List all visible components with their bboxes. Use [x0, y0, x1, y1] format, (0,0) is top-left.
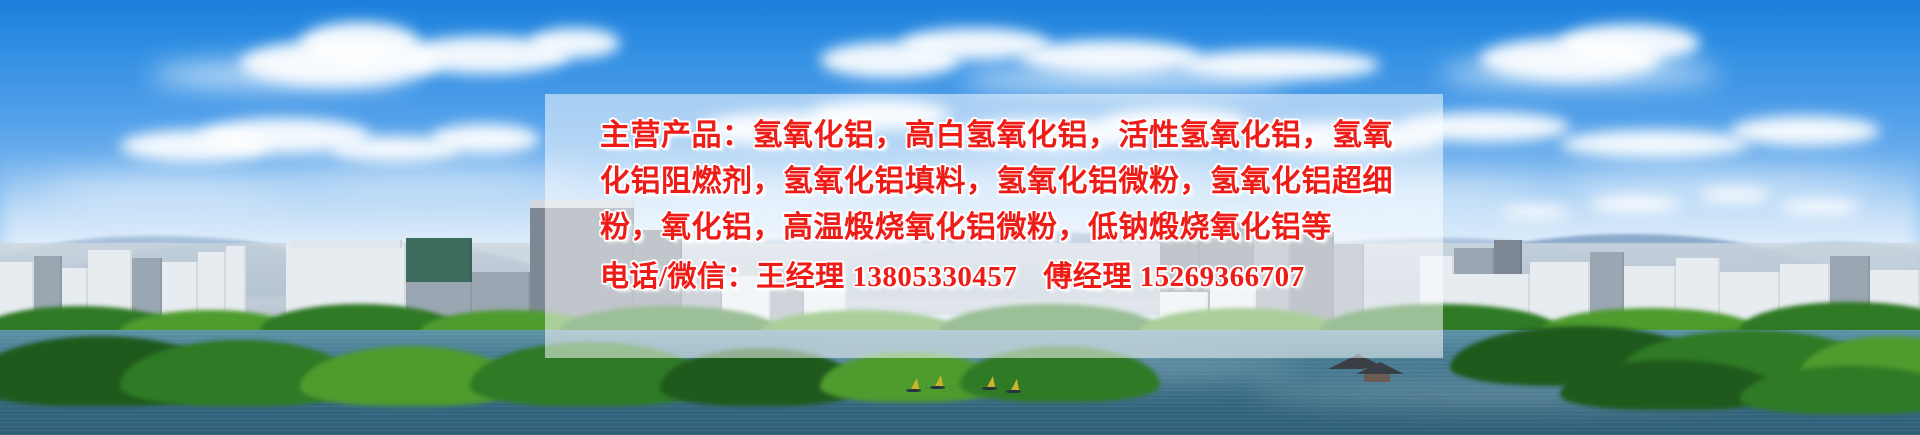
- contact1-name: 王经理: [756, 261, 845, 293]
- promo-line-1: 主营产品：氢氧化铝，高白氢氧化铝，活性氢氧化铝，氢氧: [600, 113, 1400, 159]
- promo-line-3: 粉，氧化铝，高温煅烧氧化铝微粉，低钠煅烧氧化铝等: [600, 205, 1400, 251]
- contact-label: 电话/微信：: [600, 261, 756, 293]
- promo-line-2: 化铝阻燃剂，氢氧化铝填料，氢氧化铝微粉，氢氧化铝超细: [600, 159, 1400, 205]
- contact2-name: 傅经理: [1043, 261, 1132, 293]
- banner-image: 主营产品：氢氧化铝，高白氢氧化铝，活性氢氧化铝，氢氧 化铝阻燃剂，氢氧化铝填料，…: [0, 0, 1920, 435]
- contact-line: 电话/微信：王经理 13805330457傅经理 15269366707: [600, 254, 1400, 300]
- contact2-phone: 15269366707: [1140, 261, 1305, 293]
- promo-text-block: 主营产品：氢氧化铝，高白氢氧化铝，活性氢氧化铝，氢氧 化铝阻燃剂，氢氧化铝填料，…: [600, 99, 1400, 300]
- contact1-phone: 13805330457: [852, 261, 1017, 293]
